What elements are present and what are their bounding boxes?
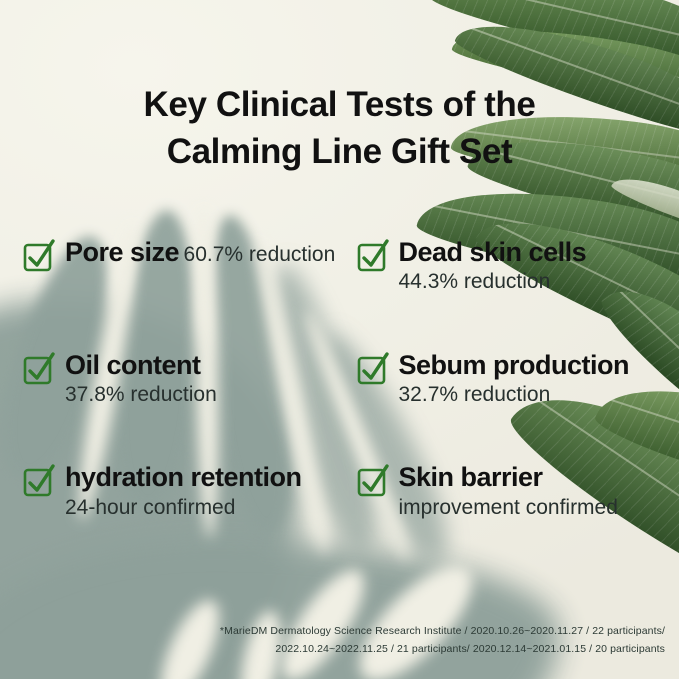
checkbox-checked-icon bbox=[358, 356, 388, 386]
list-item[interactable]: hydration retention 24-hour confirmed bbox=[24, 462, 347, 521]
page-title: Key Clinical Tests of the Calming Line G… bbox=[0, 82, 679, 176]
list-item[interactable]: Oil content 37.8% reduction bbox=[24, 350, 347, 409]
promo-graphic: Key Clinical Tests of the Calming Line G… bbox=[0, 0, 679, 679]
list-item-labels: Oil content 37.8% reduction bbox=[65, 350, 347, 409]
checkbox-checked-icon bbox=[358, 243, 388, 273]
checklist-row: hydration retention 24-hour confirmed bbox=[24, 462, 669, 521]
title-line-2: Calming Line Gift Set bbox=[60, 129, 619, 176]
list-item-title: Sebum production bbox=[399, 350, 630, 380]
list-item-title: Pore size bbox=[65, 237, 179, 267]
checkbox-checked-icon bbox=[24, 468, 54, 498]
list-item-title: hydration retention bbox=[65, 462, 302, 492]
checkbox-checked-icon bbox=[24, 356, 54, 386]
footnote-line-1: *MarieDM Dermatology Science Research In… bbox=[0, 622, 665, 640]
list-item[interactable]: Dead skin cells 44.3% reduction bbox=[358, 237, 670, 296]
list-item-labels: Pore size 60.7% reduction bbox=[65, 237, 335, 268]
checklist-cell-left: Pore size 60.7% reduction bbox=[24, 237, 347, 296]
checkbox-checked-icon bbox=[24, 243, 54, 273]
list-item[interactable]: Pore size 60.7% reduction bbox=[24, 237, 347, 273]
checklist-cell-left: hydration retention 24-hour confirmed bbox=[24, 462, 347, 521]
list-item-labels: Sebum production 32.7% reduction bbox=[399, 350, 670, 409]
list-item-title: Oil content bbox=[65, 350, 201, 380]
checklist-cell-right: Skin barrier improvement confirmed bbox=[347, 462, 670, 521]
content-layer: Key Clinical Tests of the Calming Line G… bbox=[0, 0, 679, 679]
footnote: *MarieDM Dermatology Science Research In… bbox=[0, 622, 665, 658]
checkbox-checked-icon bbox=[358, 468, 388, 498]
list-item-labels: Skin barrier improvement confirmed bbox=[399, 462, 670, 521]
list-item-detail: 32.7% reduction bbox=[399, 383, 551, 406]
list-item-detail: improvement confirmed bbox=[399, 496, 618, 519]
list-item-detail: 60.7% reduction bbox=[184, 243, 336, 266]
checklist-cell-right: Sebum production 32.7% reduction bbox=[347, 350, 670, 409]
list-item-title: Dead skin cells bbox=[399, 237, 587, 267]
checklist-row: Oil content 37.8% reduction bbox=[24, 350, 669, 409]
list-item-labels: Dead skin cells 44.3% reduction bbox=[399, 237, 670, 296]
title-line-1: Key Clinical Tests of the bbox=[144, 85, 536, 124]
checklist: Pore size 60.7% reduction bbox=[24, 237, 669, 521]
checklist-cell-right: Dead skin cells 44.3% reduction bbox=[347, 237, 670, 296]
checklist-row: Pore size 60.7% reduction bbox=[24, 237, 669, 296]
list-item-title: Skin barrier bbox=[399, 462, 543, 492]
list-item-labels: hydration retention 24-hour confirmed bbox=[65, 462, 347, 521]
list-item-detail: 37.8% reduction bbox=[65, 383, 217, 406]
list-item[interactable]: Sebum production 32.7% reduction bbox=[358, 350, 670, 409]
footnote-line-2: 2022.10.24~2022.11.25 / 21 participants/… bbox=[0, 640, 665, 658]
list-item-detail: 44.3% reduction bbox=[399, 270, 551, 293]
list-item-detail: 24-hour confirmed bbox=[65, 496, 235, 519]
checklist-cell-left: Oil content 37.8% reduction bbox=[24, 350, 347, 409]
list-item[interactable]: Skin barrier improvement confirmed bbox=[358, 462, 670, 521]
